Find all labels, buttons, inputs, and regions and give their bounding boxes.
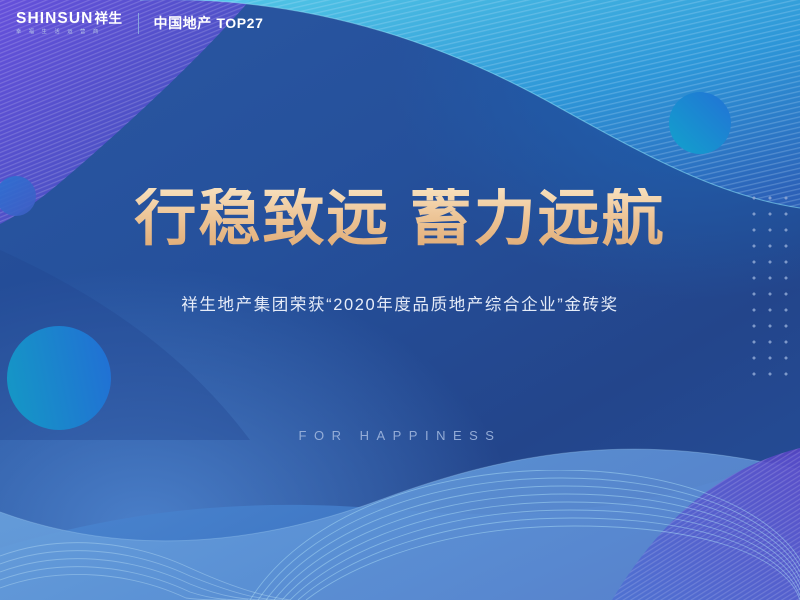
background-decoration-artwork [0,0,800,600]
shinsun-logo: SHINSUN 祥生 幸 福 生 活 运 营 商 [16,11,122,35]
logo-chinese-name: 祥生 [94,12,122,26]
header-divider [138,13,139,34]
decorative-circle-left-large [7,326,111,430]
logo-wordmark: SHINSUN 祥生 [16,11,122,27]
promotional-banner: SHINSUN 祥生 幸 福 生 活 运 营 商 中国地产 TOP27 行稳致远… [0,0,800,600]
logo-slogan: 幸 福 生 活 运 营 商 [16,30,122,35]
dot-grid-pattern [742,186,800,386]
banner-header: SHINSUN 祥生 幸 福 生 活 运 营 商 中国地产 TOP27 [0,0,800,46]
decorative-circle-top-right [669,92,731,154]
logo-english-name: SHINSUN [16,11,93,27]
ranking-label: 中国地产 TOP27 [153,13,263,33]
